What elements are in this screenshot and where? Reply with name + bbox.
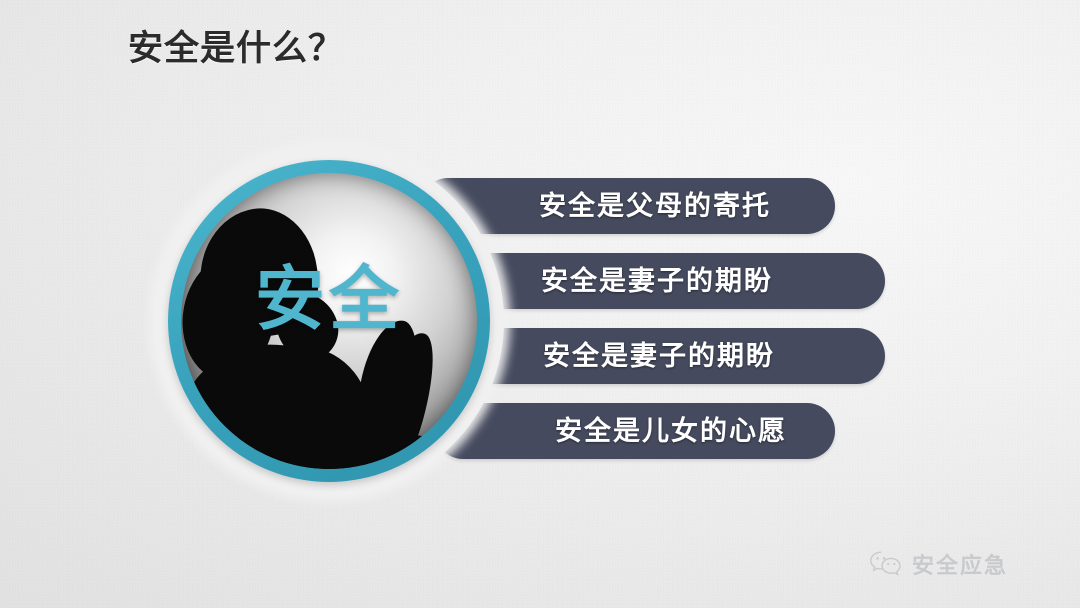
bar-label: 安全是父母的寄托 (539, 178, 771, 234)
bar-label: 安全是儿女的心愿 (555, 403, 787, 459)
page-title: 安全是什么？ (128, 20, 344, 71)
list-item[interactable]: 安全是儿女的心愿 (435, 403, 835, 459)
watermark-text: 安全应急 (912, 548, 1008, 580)
central-circle: 安全 (168, 160, 490, 482)
circle-label: 安全 (168, 264, 490, 334)
bar-label: 安全是妻子的期盼 (543, 328, 775, 384)
bar-label: 安全是妻子的期盼 (541, 253, 773, 309)
slide-canvas: 安全是什么？ 安全是父母的寄托 安全是妻子的期盼 安全是妻子的期盼 安全是儿女的… (0, 0, 1080, 608)
wechat-icon (869, 550, 903, 578)
watermark: 安全应急 (869, 548, 1008, 580)
